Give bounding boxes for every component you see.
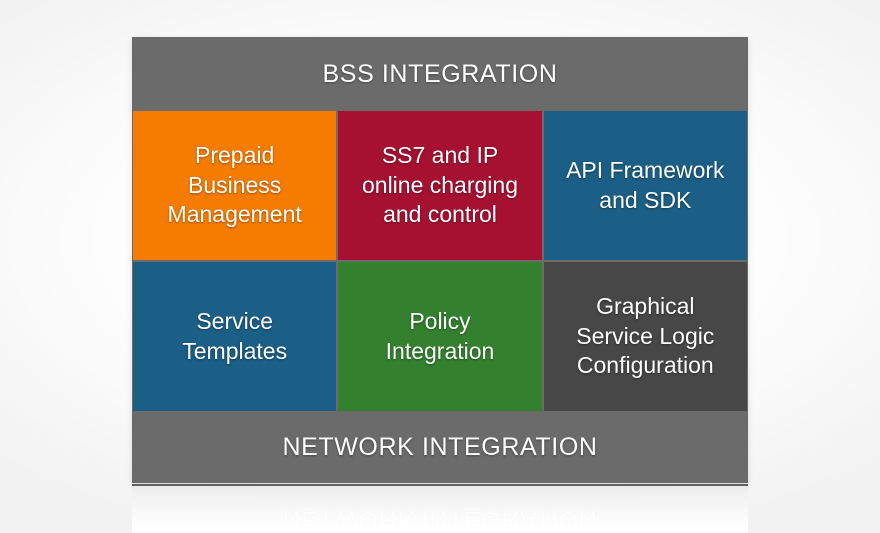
tile-label: Prepaid Business Management [168,141,302,231]
network-integration-band: NETWORK INTEGRATION [132,411,748,483]
diagram-reflection: NETWORK INTEGRATION [132,484,748,533]
bss-network-integration-diagram: BSS INTEGRATION Prepaid Business Managem… [132,37,748,483]
tile-label: Policy Integration [386,307,495,367]
tile-ss7-and-ip-online-charging-and-control[interactable]: SS7 and IP online charging and control [338,111,541,260]
network-integration-label: NETWORK INTEGRATION [282,433,597,462]
tile-service-templates[interactable]: Service Templates [133,262,336,411]
tile-label: Service Templates [182,307,287,367]
capability-tile-grid: Prepaid Business Management SS7 and IP o… [132,111,748,411]
bss-integration-label: BSS INTEGRATION [323,60,558,89]
tile-policy-integration[interactable]: Policy Integration [338,262,541,411]
diagram-canvas: BSS INTEGRATION Prepaid Business Managem… [0,0,880,533]
bss-integration-band: BSS INTEGRATION [132,37,748,111]
tile-label: SS7 and IP online charging and control [362,141,518,231]
reflection-mirror: NETWORK INTEGRATION [132,484,748,533]
reflection-edge-line [132,484,748,486]
tile-label: Graphical Service Logic Configuration [576,292,714,382]
tile-label: API Framework and SDK [566,156,724,216]
tile-api-framework-and-sdk[interactable]: API Framework and SDK [544,111,747,260]
tile-prepaid-business-management[interactable]: Prepaid Business Management [133,111,336,260]
reflection-label: NETWORK INTEGRATION [282,506,597,533]
tile-graphical-service-logic-configuration[interactable]: Graphical Service Logic Configuration [544,262,747,411]
